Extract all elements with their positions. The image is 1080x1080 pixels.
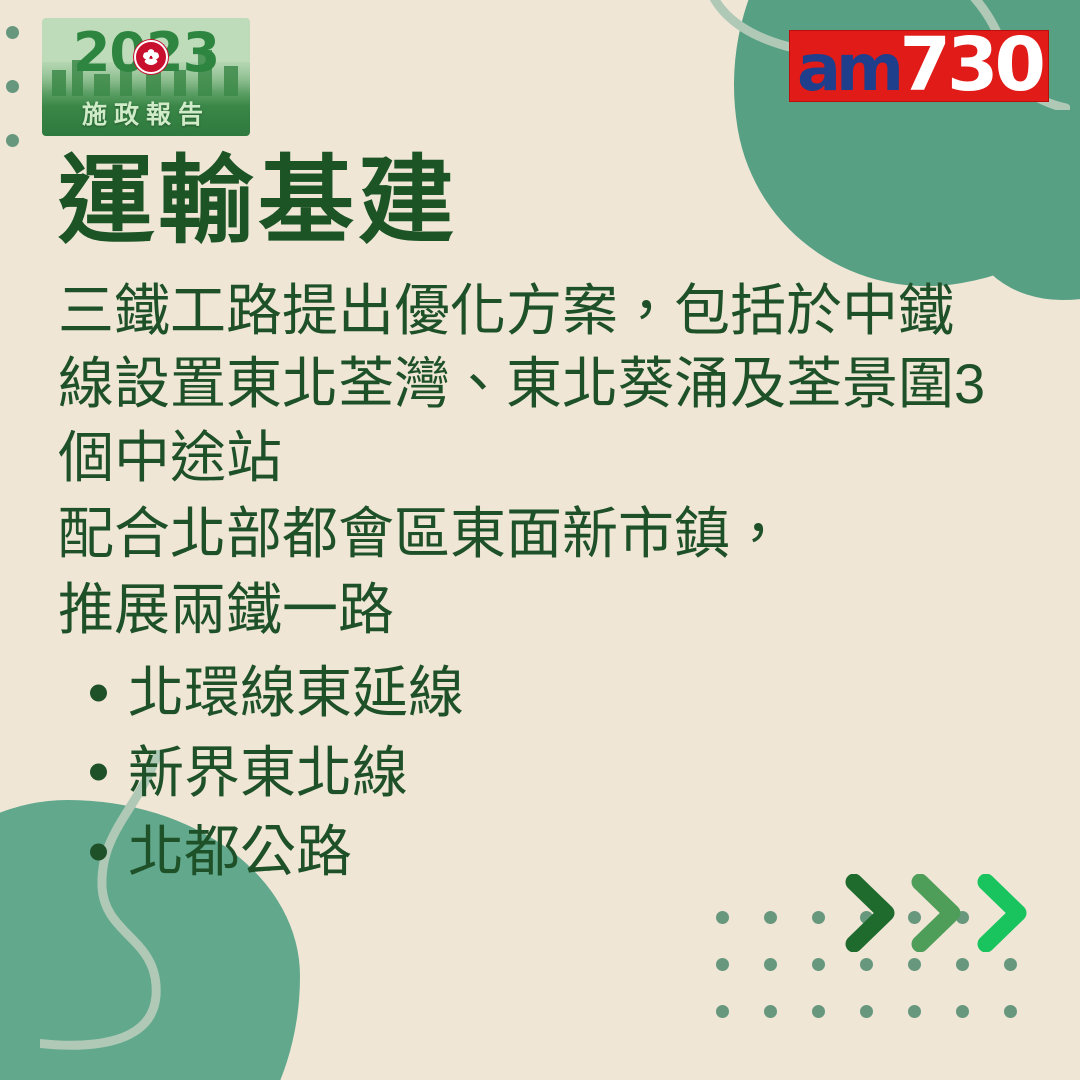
am730-logo-number: 730 (900, 34, 1042, 96)
list-item: 北環線東延線 (128, 653, 1040, 733)
list-item: 新界東北線 (128, 733, 1040, 813)
policy-address-info-card: 2023 施政報告 am 730 運輸基建 三鐵工路提出優化方案，包括於中鐵線設… (0, 0, 1080, 1080)
blob-bottom-left-secondary (0, 950, 260, 1080)
body-paragraph-3: 推展兩鐵一路 (58, 573, 988, 647)
bullet-list: 北環線東延線 新界東北線 北都公路 (58, 653, 1040, 892)
am730-logo-am: am (797, 43, 899, 97)
chevron-right-dark-icon (842, 874, 900, 952)
chevron-right-light-icon (974, 874, 1032, 952)
policy-address-logo: 2023 施政報告 (42, 18, 250, 136)
hong-kong-bauhinia-emblem-icon (134, 40, 168, 74)
chevron-arrows-group (842, 874, 1032, 952)
logo-band-text: 施政報告 (48, 102, 244, 128)
body-paragraph-2: 配合北部都會區東面新市鎮， (58, 497, 988, 571)
chevron-right-mid-icon (908, 874, 966, 952)
page-title: 運輸基建 (58, 148, 1040, 256)
main-content: 運輸基建 三鐵工路提出優化方案，包括於中鐵線設置東北荃灣、東北葵涌及荃景圍3個中… (58, 148, 1040, 892)
body-paragraph-1: 三鐵工路提出優化方案，包括於中鐵線設置東北荃灣、東北葵涌及荃景圍3個中途站 (58, 274, 988, 496)
am730-logo[interactable]: am 730 (790, 31, 1048, 101)
